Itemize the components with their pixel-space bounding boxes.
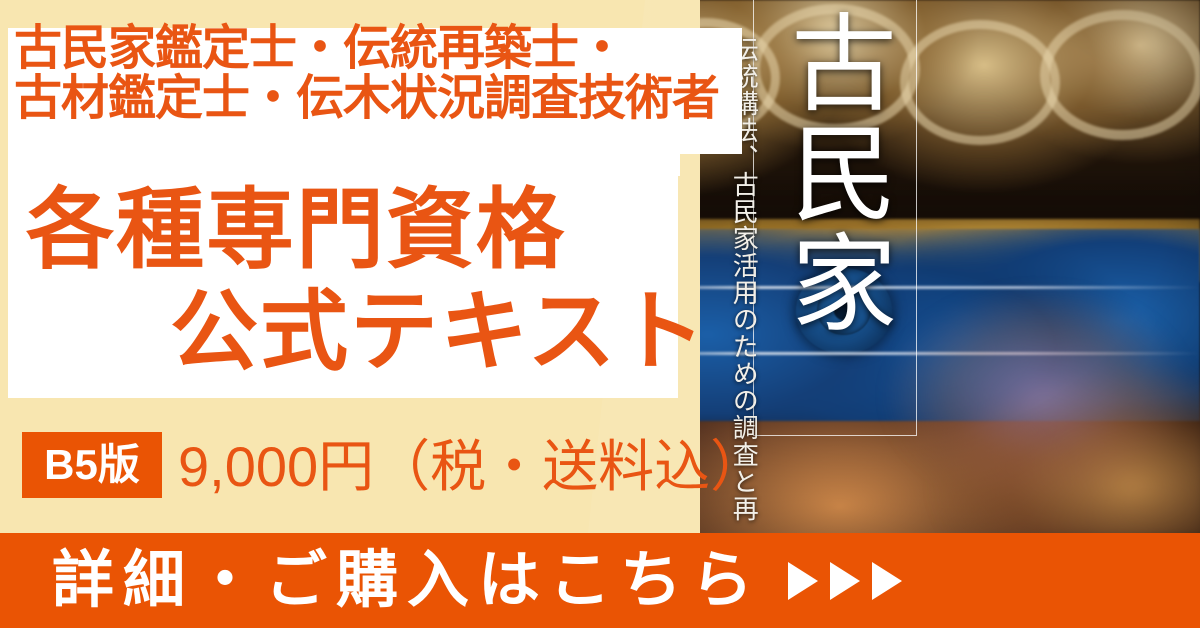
price-text: 9,000円（税・送料込） [178,436,766,498]
heading-line-1: 古民家鑑定士・伝統再築士・ [14,24,719,74]
cta-bar[interactable]: 詳細・ご購入はこちら [0,533,1200,628]
headline-line-2: 公式テキスト [170,288,707,376]
format-badge: B5版 [22,432,162,498]
cover-title: 古民家 [770,8,900,428]
chevron-right-icon [830,562,860,600]
chevron-right-icon [788,562,818,600]
headline-line-1: 各種専門資格 [26,186,566,274]
cta-arrow-group [788,562,902,600]
chevron-right-icon [872,562,902,600]
heading-text-block: 古民家鑑定士・伝統再築士・ 古材鑑定士・伝木状況調査技術者 [14,24,719,124]
banner-root: 古民家 伝統構法、古民家活用のための調査と再生の 古民家鑑定士・伝統再築士・ 古… [0,0,1200,628]
heading-line-2: 古材鑑定士・伝木状況調査技術者 [14,74,719,124]
format-badge-label: B5版 [44,444,140,486]
cta-label[interactable]: 詳細・ご購入はこちら [52,550,762,612]
